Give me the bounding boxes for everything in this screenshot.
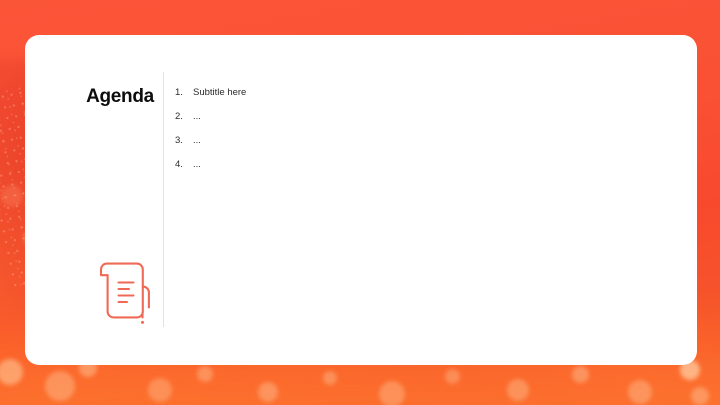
agenda-item-text: ... bbox=[193, 160, 201, 170]
scroll-document-icon bbox=[93, 260, 155, 326]
agenda-item-text: Subtitle here bbox=[193, 88, 246, 98]
agenda-list-item[interactable]: 1.Subtitle here bbox=[175, 88, 655, 112]
agenda-item-text: ... bbox=[193, 136, 201, 146]
vertical-divider bbox=[163, 72, 164, 327]
agenda-list-item[interactable]: 3.... bbox=[175, 136, 655, 160]
agenda-item-number: 4. bbox=[175, 160, 193, 170]
agenda-list: 1.Subtitle here2....3....4.... bbox=[175, 88, 655, 184]
agenda-item-number: 3. bbox=[175, 136, 193, 146]
agenda-list-item[interactable]: 2.... bbox=[175, 112, 655, 136]
agenda-item-number: 1. bbox=[175, 88, 193, 98]
agenda-list-item[interactable]: 4.... bbox=[175, 160, 655, 184]
agenda-item-text: ... bbox=[193, 112, 201, 122]
agenda-item-number: 2. bbox=[175, 112, 193, 122]
page-title: Agenda bbox=[65, 87, 175, 106]
slide-content-card: Agenda 1.Subtitle here2....3....4.... bbox=[25, 35, 697, 365]
agenda-slide: Agenda 1.Subtitle here2....3....4.... bbox=[0, 0, 720, 405]
